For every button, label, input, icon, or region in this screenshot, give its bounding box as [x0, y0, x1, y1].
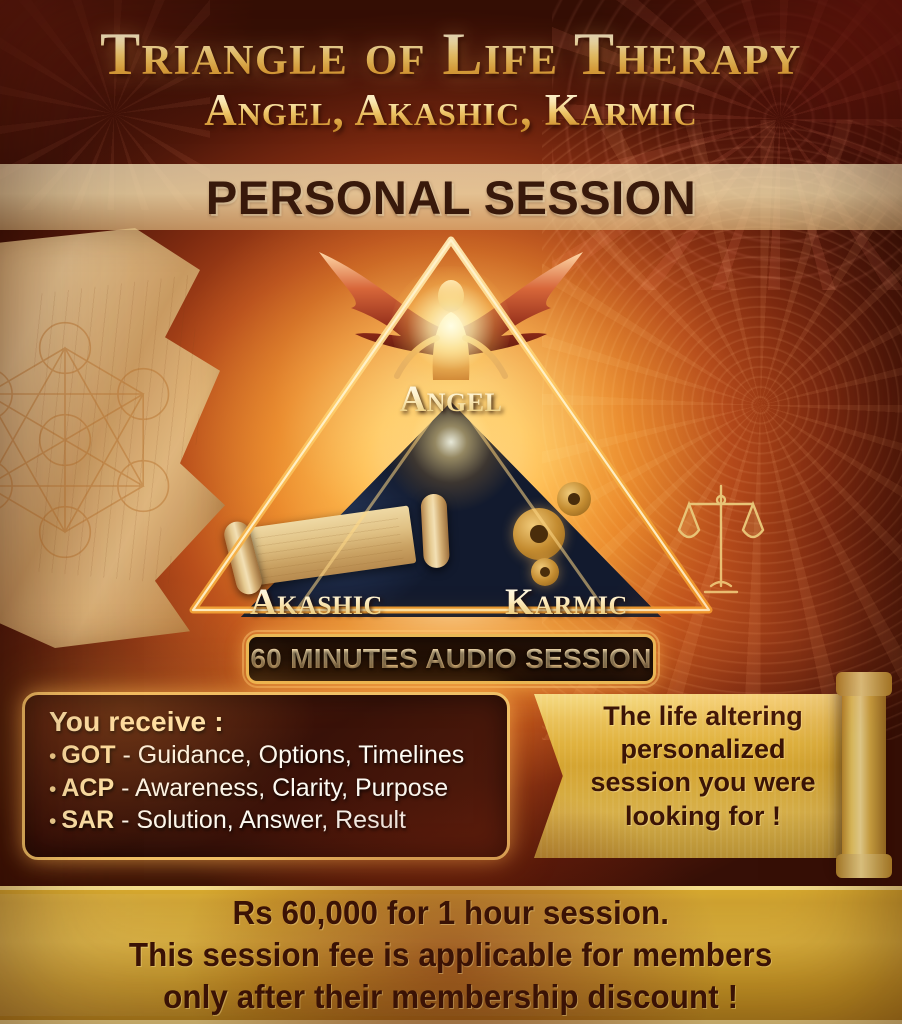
- tagline-line-1: The life altering: [560, 700, 846, 733]
- benefit-acronym: SAR: [61, 806, 114, 834]
- title-block: Triangle of Life Therapy Angel, Akashic,…: [0, 24, 902, 134]
- price-line-3: only after their membership discount !: [164, 976, 739, 1018]
- benefit-dash: -: [114, 774, 135, 802]
- benefit-dash: -: [116, 741, 138, 769]
- scroll-knob-top-icon: [836, 672, 892, 696]
- list-item: •GOT - Guidance, Options, Timelines: [49, 739, 507, 772]
- price-line-1: Rs 60,000 for 1 hour session.: [233, 892, 670, 934]
- session-type-label: PERSONAL SESSION: [206, 170, 696, 225]
- triangle-artwork: [131, 230, 771, 630]
- tagline-line-4: looking for !: [560, 800, 846, 833]
- page-title: Triangle of Life Therapy: [0, 24, 902, 85]
- benefits-list: •GOT - Guidance, Options, Timelines •ACP…: [49, 739, 507, 837]
- list-item: •SAR - Solution, Answer, Result: [49, 804, 507, 837]
- benefit-text: Awareness, Clarity, Purpose: [135, 774, 448, 802]
- triangle-label-karmic: Karmic: [505, 581, 628, 624]
- tagline-text: The life altering personalized session y…: [560, 700, 846, 833]
- price-line-2: This session fee is applicable for membe…: [129, 934, 772, 976]
- triangle-label-akashic: Akashic: [250, 581, 383, 624]
- triangle-label-angel: Angel: [400, 378, 503, 421]
- scroll-knob-bottom-icon: [836, 854, 892, 878]
- benefit-text: Solution, Answer, Result: [136, 806, 406, 834]
- poster-canvas: Triangle of Life Therapy Angel, Akashic,…: [0, 0, 902, 1024]
- benefit-acronym: ACP: [61, 774, 114, 802]
- list-item: •ACP - Awareness, Clarity, Purpose: [49, 772, 507, 805]
- tagline-line-2: personalized: [560, 733, 846, 766]
- benefit-text: Guidance, Options, Timelines: [138, 741, 465, 769]
- benefits-title: You receive :: [49, 706, 507, 738]
- scroll-roll-icon: [842, 680, 886, 872]
- bullet-icon: •: [49, 778, 56, 801]
- duration-label: 60 MINUTES AUDIO SESSION: [250, 643, 651, 675]
- tagline-ribbon: The life altering personalized session y…: [534, 676, 902, 874]
- benefits-panel: You receive : •GOT - Guidance, Options, …: [22, 692, 510, 860]
- bullet-icon: •: [49, 745, 56, 768]
- tagline-line-3: session you were: [560, 766, 846, 799]
- benefit-dash: -: [114, 806, 136, 834]
- bullet-icon: •: [49, 810, 56, 833]
- benefit-acronym: GOT: [61, 741, 115, 769]
- price-banner: Rs 60,000 for 1 hour session. This sessi…: [0, 886, 902, 1024]
- page-subtitle: Angel, Akashic, Karmic: [0, 87, 902, 134]
- session-type-band: PERSONAL SESSION: [0, 164, 902, 230]
